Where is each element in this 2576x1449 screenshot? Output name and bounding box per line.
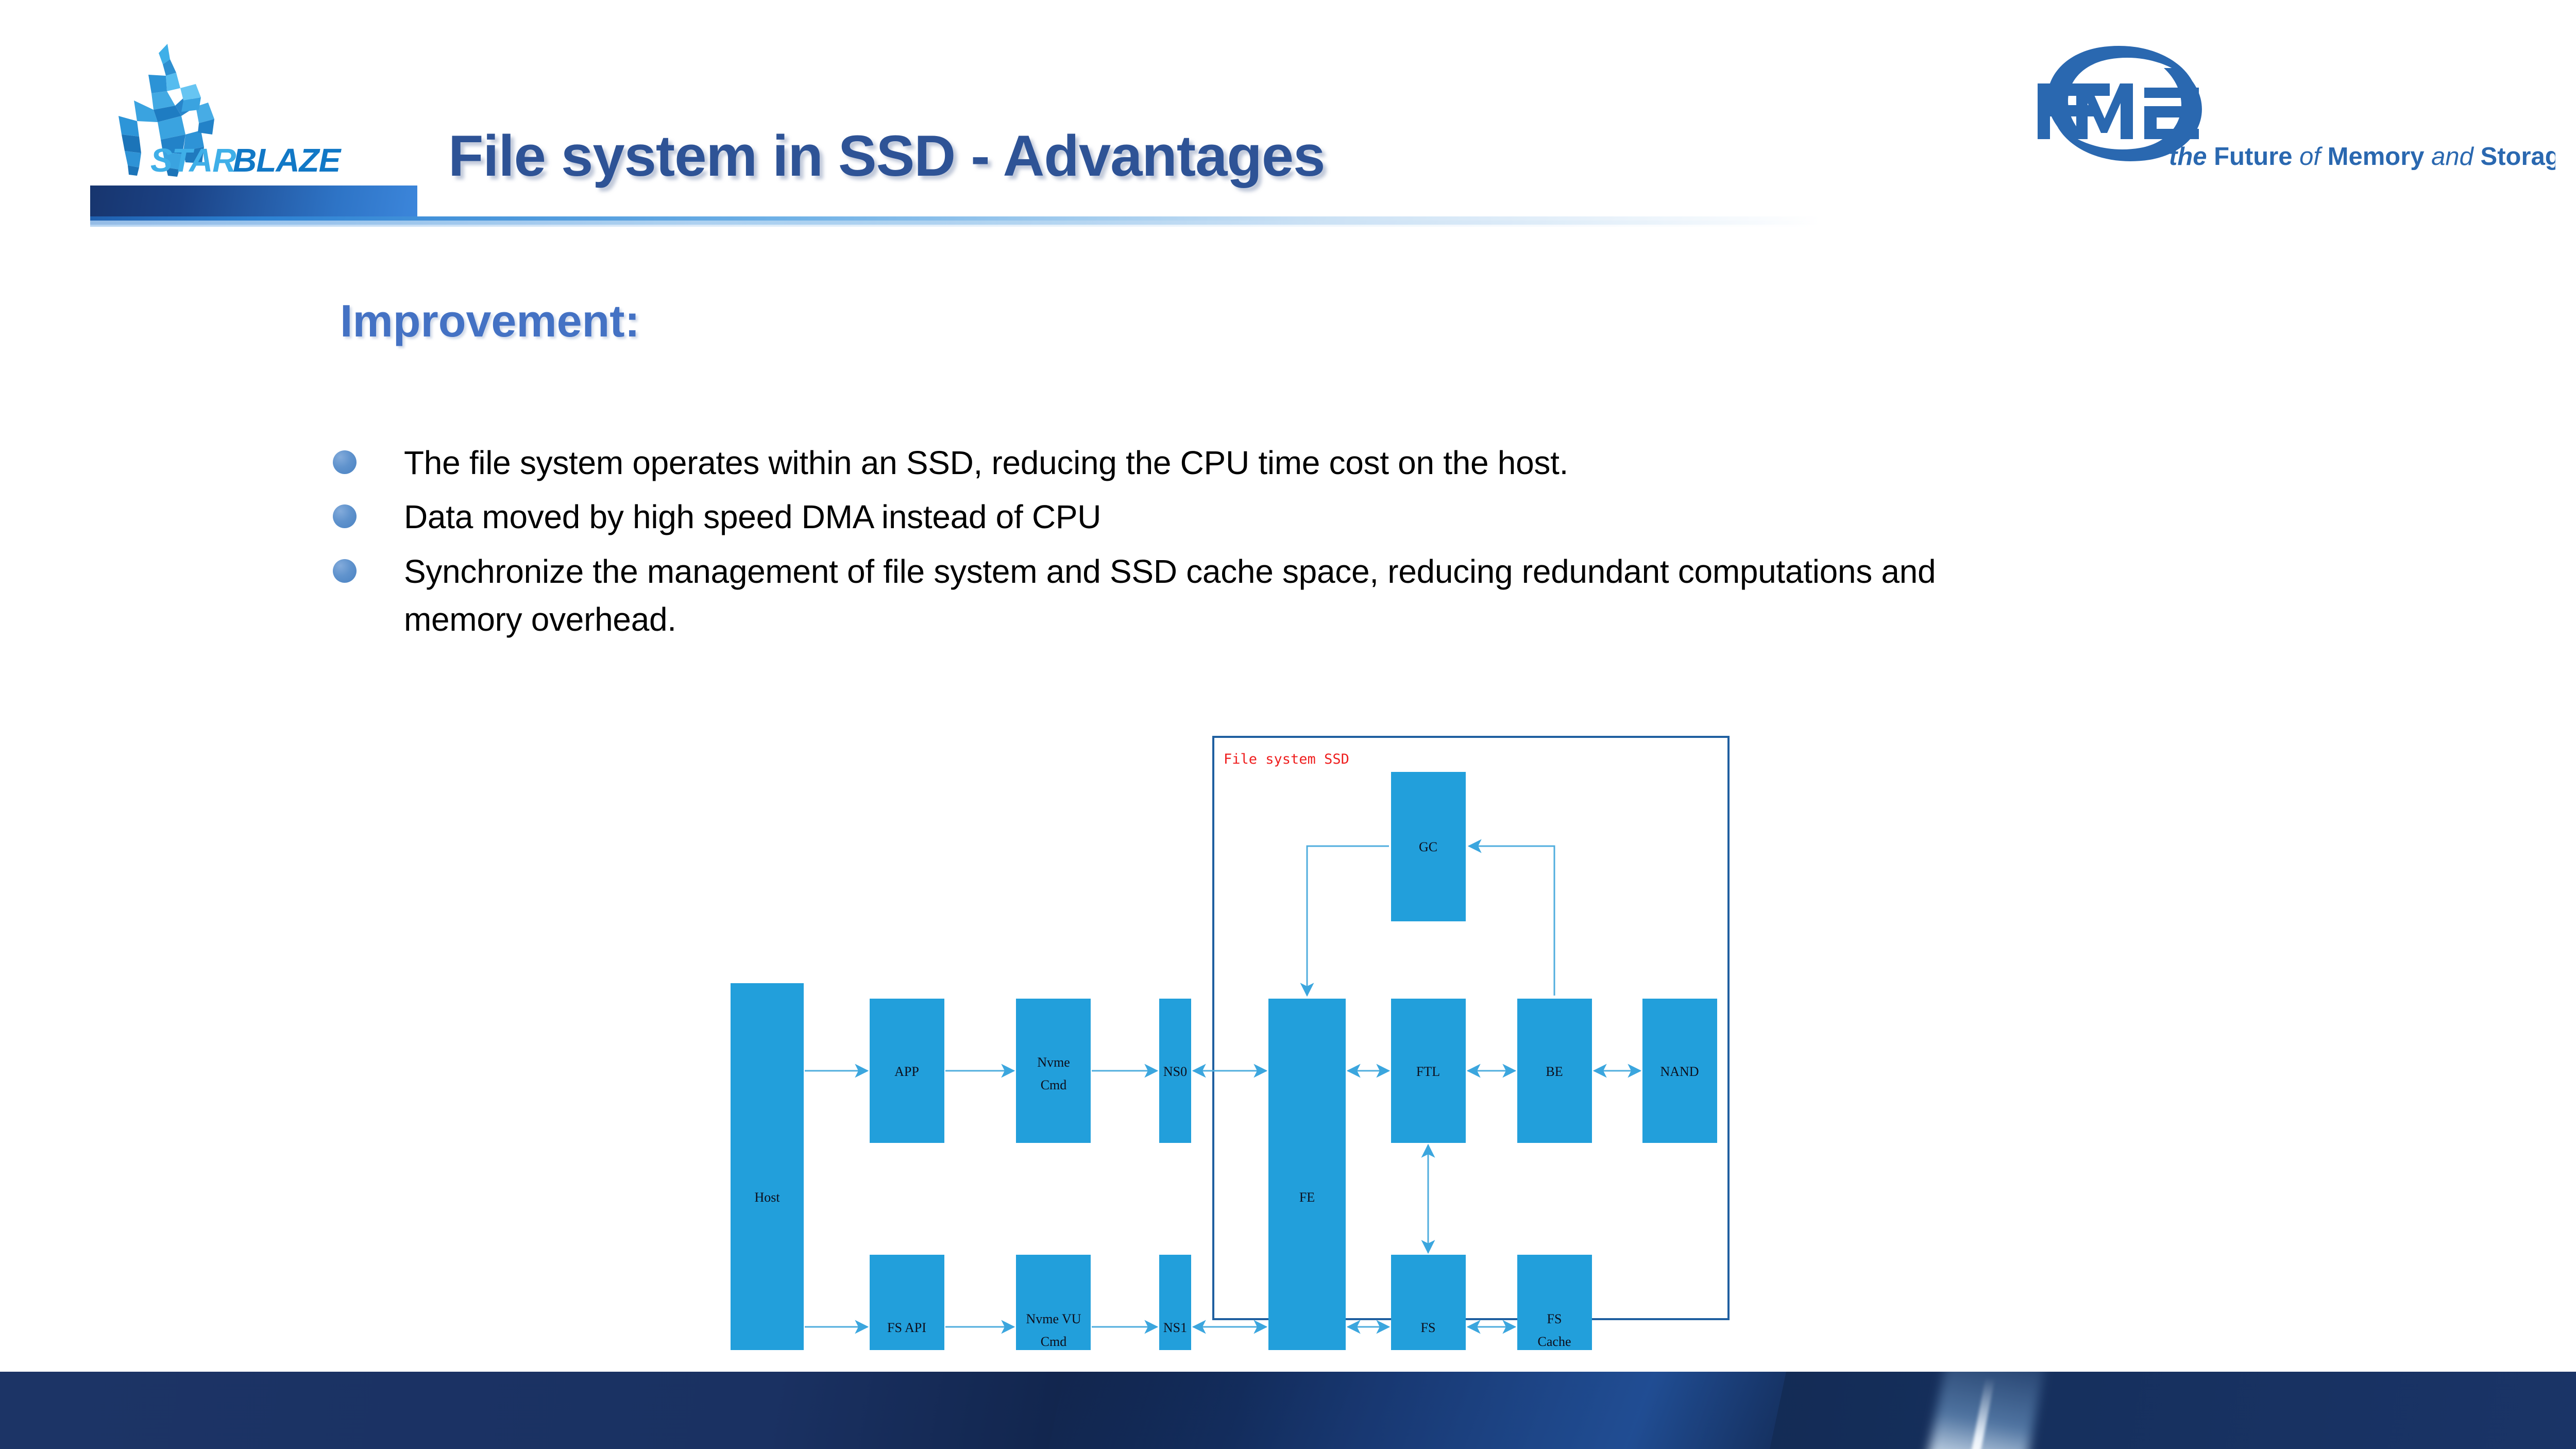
node-fs-cache-label-1: FS bbox=[1547, 1311, 1562, 1326]
node-ns1 bbox=[1159, 1255, 1191, 1350]
fms-tagline-the: the bbox=[2169, 143, 2214, 171]
starblaze-wordmark-part1: STAR bbox=[150, 142, 236, 179]
list-item: Synchronize the management of file syste… bbox=[333, 548, 2033, 644]
node-host-label: Host bbox=[754, 1190, 780, 1205]
node-nvme-vu-cmd-label-2: Cmd bbox=[1041, 1334, 1067, 1349]
slide-header: STAR BLAZE File system in SSD - Advantag… bbox=[0, 0, 2576, 232]
node-app-label: APP bbox=[894, 1064, 919, 1079]
fms-tagline-and: and bbox=[2425, 143, 2481, 171]
node-nvme-cmd bbox=[1016, 999, 1091, 1143]
node-nvme-vu-cmd-label-1: Nvme VU bbox=[1026, 1311, 1081, 1326]
fms-logo: the Future of Memory and Storage bbox=[2009, 36, 2555, 175]
list-item: The file system operates within an SSD, … bbox=[333, 439, 2033, 487]
header-accent-line-glow bbox=[90, 221, 1821, 227]
node-fe bbox=[1268, 999, 1346, 1350]
node-nvme-cmd-label-1: Nvme bbox=[1037, 1055, 1070, 1070]
improvement-bullet-list: The file system operates within an SSD, … bbox=[333, 439, 2033, 650]
page-title: File system in SSD - Advantages bbox=[448, 123, 1325, 189]
node-fs-cache-label-2: Cache bbox=[1538, 1334, 1571, 1349]
node-be-label: BE bbox=[1546, 1064, 1563, 1079]
container-label: File system SSD bbox=[1224, 751, 1349, 767]
ssd-architecture-diagram: File system SSD Host APP Nvme Cmd NS0 FS… bbox=[721, 732, 1777, 1350]
edge-gc-to-fe bbox=[1307, 846, 1389, 996]
starblaze-logo: STAR BLAZE bbox=[98, 44, 397, 180]
fms-tagline-memory: Memory bbox=[2328, 143, 2425, 171]
header-accent-block bbox=[90, 186, 417, 218]
node-ns0-label: NS0 bbox=[1163, 1064, 1187, 1079]
bullet-dot-icon bbox=[333, 450, 357, 474]
list-item-label: Synchronize the management of file syste… bbox=[404, 548, 2033, 644]
node-fe-label: FE bbox=[1299, 1190, 1315, 1205]
node-fs-api bbox=[870, 1255, 944, 1350]
node-nvme-cmd-label-2: Cmd bbox=[1041, 1077, 1067, 1092]
footer-sweep-shape bbox=[1043, 1372, 1790, 1449]
bullet-dot-icon bbox=[333, 559, 357, 583]
node-ns1-label: NS1 bbox=[1163, 1320, 1187, 1335]
node-fs-label: FS bbox=[1421, 1320, 1436, 1335]
node-fs bbox=[1391, 1255, 1466, 1350]
svg-text:the Future of Memory and Stora: the Future of Memory and Storage bbox=[2169, 143, 2555, 171]
node-fs-api-label: FS API bbox=[887, 1320, 926, 1335]
list-item-label: The file system operates within an SSD, … bbox=[404, 439, 1568, 487]
fms-tagline-of: of bbox=[2293, 143, 2328, 171]
node-nand-label: NAND bbox=[1660, 1064, 1699, 1079]
bullet-dot-icon bbox=[333, 504, 357, 528]
node-gc-label: GC bbox=[1419, 839, 1437, 854]
node-ftl-label: FTL bbox=[1416, 1064, 1440, 1079]
section-heading: Improvement: bbox=[340, 295, 640, 347]
edge-be-to-gc bbox=[1469, 846, 1554, 996]
list-item: Data moved by high speed DMA instead of … bbox=[333, 493, 2033, 541]
slide-footer bbox=[0, 1372, 2576, 1449]
fms-tagline-future: Future bbox=[2214, 143, 2292, 171]
list-item-label: Data moved by high speed DMA instead of … bbox=[404, 493, 1101, 541]
node-host bbox=[731, 983, 804, 1350]
fms-tagline-storage: Storage bbox=[2481, 143, 2555, 171]
starblaze-wordmark-part2: BLAZE bbox=[233, 142, 342, 179]
